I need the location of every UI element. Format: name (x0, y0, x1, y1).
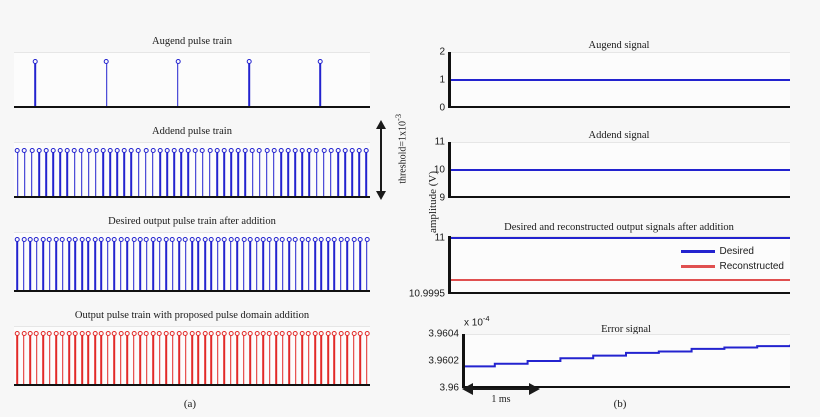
stem (366, 334, 368, 386)
stem (353, 334, 355, 386)
subfigure-label-b: (b) (580, 398, 660, 410)
y-tick-label: 2 (439, 47, 448, 58)
stem (237, 240, 239, 292)
panel-augend-signal: Augend signal 2 1 0 (448, 40, 790, 108)
stem-marker (250, 148, 255, 153)
axis-bottom-line (448, 106, 790, 109)
stem (314, 334, 316, 386)
stem-marker (36, 148, 41, 153)
stem-marker (112, 331, 117, 336)
stem (23, 334, 25, 386)
stem-marker (215, 237, 220, 242)
stem (81, 151, 83, 198)
stem (266, 151, 268, 198)
stem-marker (243, 148, 248, 153)
stem (55, 334, 57, 386)
stem-marker (105, 237, 110, 242)
stem (67, 151, 69, 198)
stem-marker (319, 331, 324, 336)
stem-marker (138, 331, 143, 336)
stem (185, 240, 187, 292)
stem (223, 151, 225, 198)
stem-marker (267, 237, 272, 242)
stem (62, 334, 64, 386)
stem-series-addend (14, 142, 370, 198)
stem-marker (364, 237, 369, 242)
stem-marker (41, 331, 46, 336)
stem-marker (92, 331, 97, 336)
stem (23, 240, 25, 292)
stem (337, 151, 339, 198)
stem-marker (306, 237, 311, 242)
stem-marker (274, 331, 279, 336)
stem-marker (287, 237, 292, 242)
axis-top-line (448, 142, 790, 143)
stem (88, 240, 90, 292)
stem (101, 334, 103, 386)
stem (62, 240, 64, 292)
stem (224, 334, 226, 386)
stem-marker (67, 331, 72, 336)
stem (159, 334, 161, 386)
panel-desired-reconstructed-signals: Desired and reconstructed output signals… (448, 222, 790, 294)
stem (209, 151, 211, 198)
stem-marker (99, 237, 104, 242)
panel-title-augend-signal: Augend signal (448, 40, 790, 51)
stem-marker (125, 237, 130, 242)
stem-marker (318, 59, 323, 64)
stem (308, 240, 310, 292)
stem-marker (41, 237, 46, 242)
stem (269, 240, 271, 292)
stem (217, 334, 219, 386)
stem-marker (136, 148, 141, 153)
stem-marker (332, 331, 337, 336)
stem (295, 334, 297, 386)
stem (282, 240, 284, 292)
stem (262, 334, 264, 386)
stem-marker (261, 331, 266, 336)
stem-marker (280, 237, 285, 242)
double-arrow-icon (380, 128, 382, 192)
stem (75, 334, 77, 386)
threshold-label-text: threshold=1x10 (397, 121, 408, 184)
stem (288, 240, 290, 292)
stem-marker (186, 148, 191, 153)
figure-root: Augend pulse train Addend pulse train De… (0, 0, 820, 417)
legend-desired-reconstructed: Desired Reconstructed (681, 246, 784, 276)
y-tick-label: 9 (439, 193, 448, 204)
stem (327, 334, 329, 386)
stem-marker (236, 148, 241, 153)
stem (75, 240, 77, 292)
stem (49, 240, 51, 292)
stem (301, 240, 303, 292)
stem-series-augend (14, 52, 370, 108)
y-axis-multiplier-exponent: -4 (483, 314, 490, 323)
stem (309, 151, 311, 198)
stem (340, 240, 342, 292)
stem (275, 240, 277, 292)
stem (316, 151, 318, 198)
stem-marker (108, 148, 113, 153)
stem-marker (286, 148, 291, 153)
stem-marker (254, 237, 259, 242)
stem (16, 240, 18, 292)
stem (52, 151, 54, 198)
stem-marker (131, 237, 136, 242)
stem-marker (54, 237, 59, 242)
stem-marker (207, 148, 212, 153)
panel-proposed-output-pulse-train: Output pulse train with proposed pulse d… (14, 310, 370, 386)
stem (38, 151, 40, 198)
stem-marker (15, 237, 20, 242)
stem (295, 240, 297, 292)
stem-marker (28, 237, 33, 242)
stem (288, 334, 290, 386)
stem-marker (157, 237, 162, 242)
axis-left-spine (448, 52, 451, 108)
series-line-reconstructed (448, 279, 790, 281)
stem (249, 240, 251, 292)
stem (94, 334, 96, 386)
stem-marker (183, 331, 188, 336)
stem-marker (228, 331, 233, 336)
stem (321, 334, 323, 386)
legend-item-reconstructed: Reconstructed (681, 261, 784, 272)
stem-marker (157, 148, 162, 153)
stem-marker (222, 148, 227, 153)
stem (165, 240, 167, 292)
stem (55, 240, 57, 292)
plot-area-addend-signal: 11 10 9 (448, 142, 790, 198)
stem-marker (261, 237, 266, 242)
stem-marker (364, 148, 369, 153)
stem-marker (175, 59, 180, 64)
plot-area-augend-pulse-train (14, 52, 370, 108)
stem (294, 151, 296, 198)
stem (74, 151, 76, 198)
stem (347, 334, 349, 386)
stem-marker (215, 331, 220, 336)
stem-marker (235, 237, 240, 242)
axis-left-spine (462, 334, 465, 388)
stem-marker (28, 331, 33, 336)
stem (114, 240, 116, 292)
stem (139, 334, 141, 386)
stem (302, 151, 304, 198)
stem (120, 334, 122, 386)
stem (330, 151, 332, 198)
y-tick-label: 10.9995 (409, 289, 448, 300)
series-line-desired (448, 237, 790, 239)
stem-marker (325, 331, 330, 336)
stem-marker (150, 148, 155, 153)
panel-addend-signal: Addend signal 11 10 9 (448, 130, 790, 198)
stem (138, 151, 140, 198)
stem-marker (29, 148, 34, 153)
stem-marker (179, 148, 184, 153)
stem (120, 240, 122, 292)
stem (216, 151, 218, 198)
stem-marker (115, 148, 120, 153)
stem (29, 334, 31, 386)
legend-item-desired: Desired (681, 246, 784, 257)
plot-area-desired-reconstructed-signals: 11 10.9995 Desired Reconstructed (448, 236, 790, 294)
stem-marker (125, 331, 130, 336)
stem-marker (151, 331, 156, 336)
stem (230, 334, 232, 386)
plot-area-addend-pulse-train (14, 142, 370, 198)
stem-marker (47, 237, 52, 242)
stem-marker (307, 148, 312, 153)
stem-marker (338, 237, 343, 242)
stem-marker (47, 331, 52, 336)
stem-marker (306, 331, 311, 336)
stem-marker (34, 237, 39, 242)
axis-bottom-line (14, 290, 370, 293)
stem-marker (222, 237, 227, 242)
stem (282, 334, 284, 386)
stem (259, 151, 261, 198)
stem-marker (338, 331, 343, 336)
stem (146, 240, 148, 292)
stem-marker (312, 331, 317, 336)
stem-marker (196, 331, 201, 336)
stem-marker (190, 331, 195, 336)
stem-marker (209, 237, 214, 242)
stem-marker (112, 237, 117, 242)
stem (178, 334, 180, 386)
stem (152, 334, 154, 386)
stem-marker (345, 331, 350, 336)
stem-marker (229, 148, 234, 153)
stem (159, 240, 161, 292)
stem-marker (193, 148, 198, 153)
stem (321, 240, 323, 292)
stem-marker (321, 148, 326, 153)
stem (334, 240, 336, 292)
stem (29, 240, 31, 292)
stem-marker (209, 331, 214, 336)
stem-marker (170, 331, 175, 336)
stem-marker (241, 237, 246, 242)
stem (191, 240, 193, 292)
series-line-augend-signal (448, 79, 790, 81)
stem (181, 151, 183, 198)
stem (152, 240, 154, 292)
stem (327, 240, 329, 292)
stem-marker (319, 237, 324, 242)
plot-area-augend-signal: 2 1 0 (448, 52, 790, 108)
stem-marker (105, 331, 110, 336)
stem (152, 151, 154, 198)
stem-marker (60, 331, 65, 336)
stem-marker (101, 148, 106, 153)
stem-marker (202, 331, 207, 336)
stem (256, 240, 258, 292)
axis-bottom-line (14, 384, 370, 387)
stem-marker (351, 237, 356, 242)
stem (204, 240, 206, 292)
scalebar-line (470, 388, 532, 390)
stem (211, 240, 213, 292)
stem (172, 240, 174, 292)
stem (195, 151, 197, 198)
stem (45, 151, 47, 198)
stem-marker (280, 331, 285, 336)
stem-marker (143, 148, 148, 153)
stem (237, 334, 239, 386)
stem-marker (300, 331, 305, 336)
stem (109, 151, 111, 198)
stem (308, 334, 310, 386)
stem-marker (351, 331, 356, 336)
stem-marker (73, 331, 78, 336)
axis-left-spine (448, 142, 451, 198)
stem (359, 240, 361, 292)
stem (88, 334, 90, 386)
stem-marker (300, 237, 305, 242)
stem-marker (129, 148, 134, 153)
stem (262, 240, 264, 292)
stem (107, 240, 109, 292)
stem-marker (214, 148, 219, 153)
stem-marker (196, 237, 201, 242)
stem-marker (350, 148, 355, 153)
stem-series-desired-output (14, 232, 370, 292)
stem (347, 240, 349, 292)
stem-marker (99, 331, 104, 336)
stem-marker (264, 148, 269, 153)
stem (59, 151, 61, 198)
stem-marker (104, 59, 109, 64)
stem (126, 240, 128, 292)
stem (49, 334, 51, 386)
stem-marker (358, 237, 363, 242)
y-tick-label: 10 (434, 165, 448, 176)
scalebar-label: 1 ms (462, 394, 540, 405)
stem-marker (21, 237, 26, 242)
stem-marker (248, 237, 253, 242)
stem-marker (15, 331, 20, 336)
series-line-addend-signal (448, 169, 790, 171)
stem (133, 334, 135, 386)
stem (252, 151, 254, 198)
stem (301, 334, 303, 386)
stem-marker (118, 331, 123, 336)
stem-marker (267, 331, 272, 336)
stem-marker (67, 237, 72, 242)
stem-marker (335, 148, 340, 153)
stem-marker (86, 237, 91, 242)
stem-marker (93, 148, 98, 153)
stem-marker (165, 148, 170, 153)
stem-marker (33, 59, 38, 64)
y-tick-label: 3.9604 (428, 329, 462, 340)
stem-marker (151, 237, 156, 242)
stem-marker (300, 148, 305, 153)
stem-marker (345, 237, 350, 242)
stem-marker (343, 148, 348, 153)
stem (344, 151, 346, 198)
stem (249, 334, 251, 386)
panel-title-addend-pulse-train: Addend pulse train (14, 126, 370, 137)
axis-bottom-line (14, 106, 370, 109)
stem (81, 334, 83, 386)
stem-marker (271, 148, 276, 153)
amplitude-axis-label: amplitude (V) (427, 171, 439, 233)
stem (198, 240, 200, 292)
stem (81, 240, 83, 292)
stem-marker (274, 237, 279, 242)
stem (68, 240, 70, 292)
stem (139, 240, 141, 292)
stem (188, 151, 190, 198)
stem (287, 151, 289, 198)
stem (16, 334, 18, 386)
stem-marker (177, 331, 182, 336)
stem-series-proposed-output (14, 326, 370, 386)
stem-marker (60, 237, 65, 242)
legend-swatch-desired (681, 250, 715, 253)
stem (106, 62, 108, 108)
stem (107, 334, 109, 386)
stem (275, 334, 277, 386)
axis-left-spine (448, 236, 451, 294)
stem-marker (183, 237, 188, 242)
stem (133, 240, 135, 292)
axis-bottom-line (448, 292, 790, 295)
stem (114, 334, 116, 386)
stem (359, 334, 361, 386)
stem-marker (118, 237, 123, 242)
stem (42, 240, 44, 292)
stem-marker (21, 331, 26, 336)
stem (366, 151, 368, 198)
stem (359, 151, 361, 198)
axis-bottom-line (448, 196, 790, 199)
stem (31, 151, 33, 198)
stem (245, 151, 247, 198)
stem-marker (164, 237, 169, 242)
stem (88, 151, 90, 198)
legend-swatch-reconstructed (681, 265, 715, 268)
stem-marker (254, 331, 259, 336)
axis-top-line (448, 52, 790, 53)
stem (204, 334, 206, 386)
stem-marker (287, 331, 292, 336)
stem-marker (131, 331, 136, 336)
stem-marker (79, 331, 84, 336)
plot-area-error-signal: 3.9604 3.9602 3.96 (462, 334, 790, 388)
stem (146, 334, 148, 386)
stem-marker (144, 331, 149, 336)
plot-area-proposed-output-pulse-train (14, 326, 370, 386)
stem (198, 334, 200, 386)
stem (165, 334, 167, 386)
stem (172, 334, 174, 386)
stem (323, 151, 325, 198)
stem (68, 334, 70, 386)
stem (191, 334, 193, 386)
y-tick-label: 1 (439, 75, 448, 86)
stem (202, 151, 204, 198)
stem (269, 334, 271, 386)
stem (178, 240, 180, 292)
stem-marker (364, 331, 369, 336)
stem (224, 240, 226, 292)
